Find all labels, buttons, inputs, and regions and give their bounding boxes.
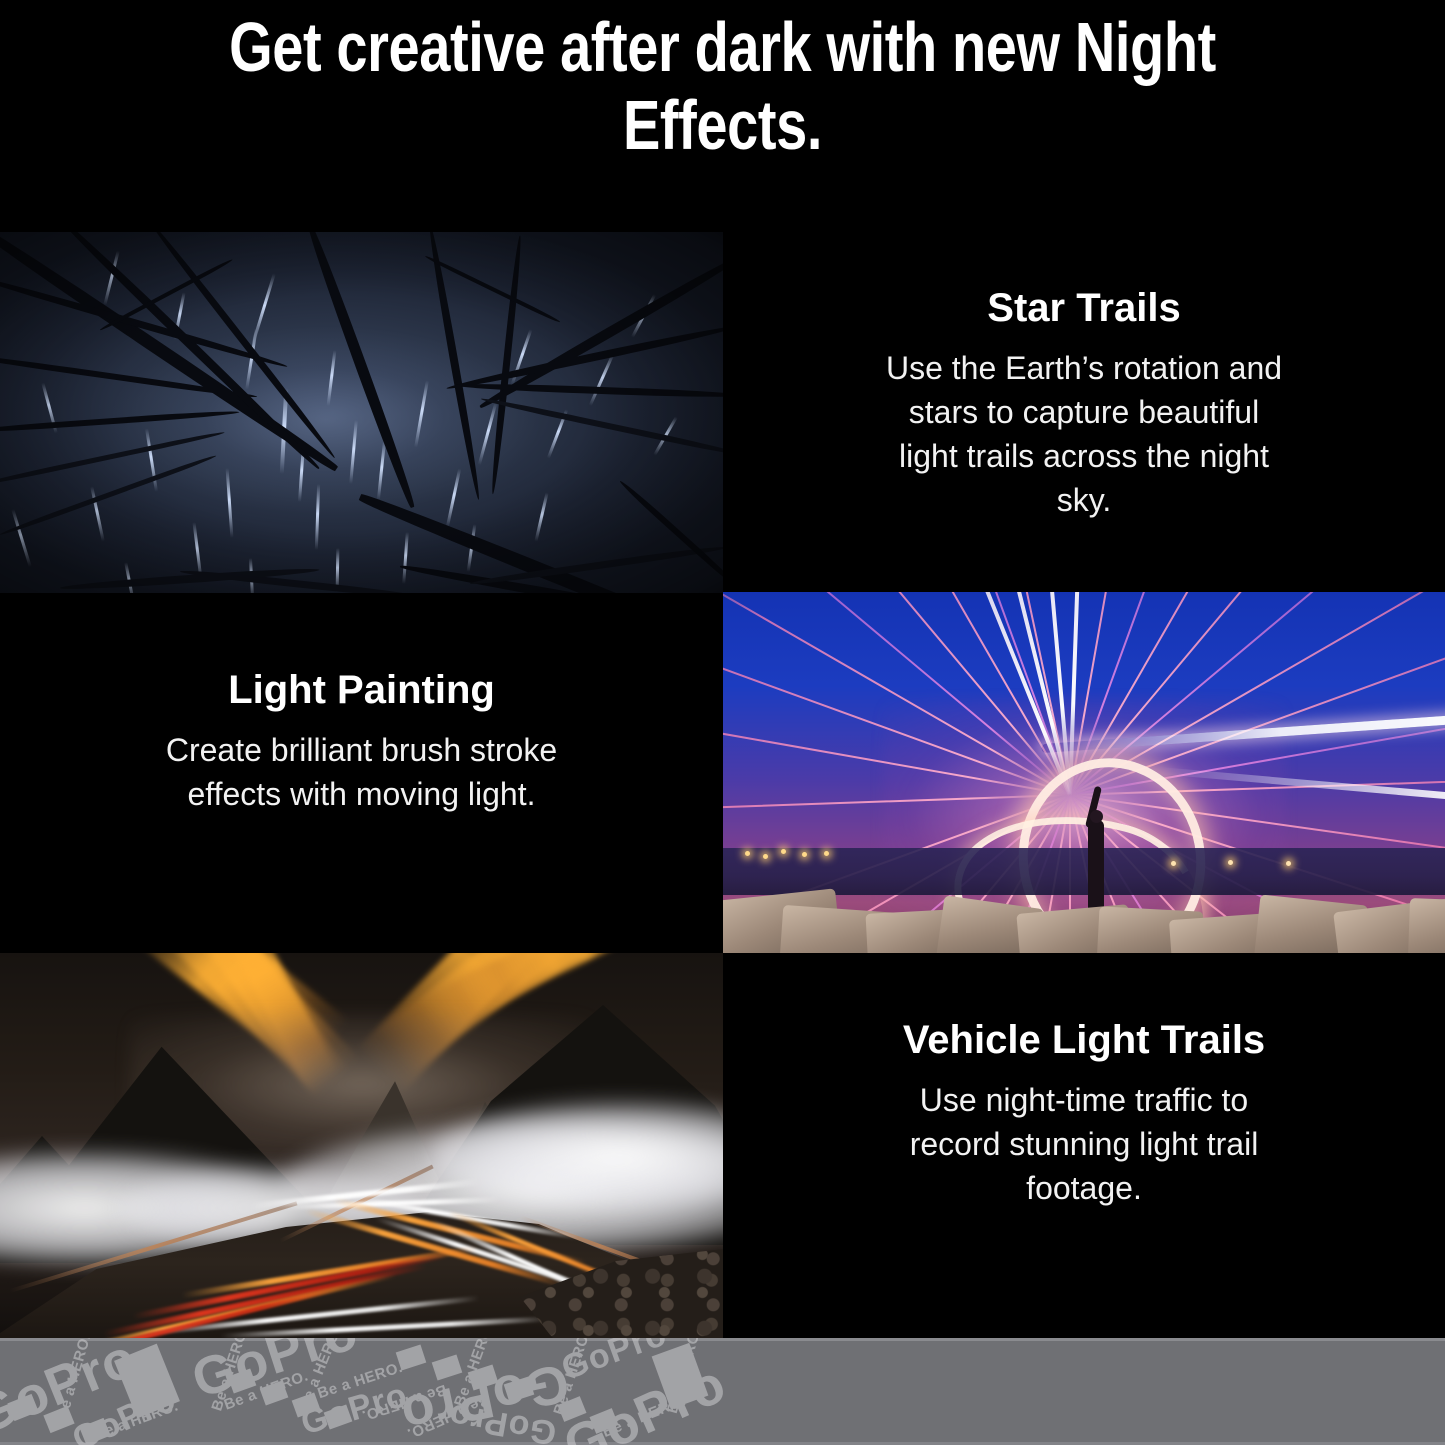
star-trails-text-block: Star Trails Use the Earth’s rotation and…	[723, 286, 1445, 522]
light-painting-image	[723, 592, 1445, 953]
star-trails-heading: Star Trails	[987, 286, 1180, 330]
footer-watermark-pattern: GoPro GoPro GoPro GoPro GoPro GoPro GoPr…	[0, 1338, 730, 1445]
vehicle-light-trails-text-block: Vehicle Light Trails Use night-time traf…	[723, 1018, 1445, 1210]
vehicle-light-trails-heading: Vehicle Light Trails	[903, 1018, 1265, 1062]
footer-bar: GoPro GoPro GoPro GoPro GoPro GoPro GoPr…	[0, 1338, 1445, 1445]
page-title: Get creative after dark with new Night E…	[193, 8, 1253, 164]
light-painting-heading: Light Painting	[228, 668, 495, 712]
star-trails-image	[0, 232, 723, 593]
poster-root: Get creative after dark with new Night E…	[0, 0, 1445, 1445]
vehicle-light-trails-body: Use night-time traffic to record stunnin…	[884, 1078, 1284, 1210]
light-painting-body: Create brilliant brush stroke effects wi…	[162, 728, 562, 816]
vehicle-light-trails-image	[0, 953, 723, 1338]
star-trails-body: Use the Earth’s rotation and stars to ca…	[884, 346, 1284, 522]
light-painting-text-block: Light Painting Create brilliant brush st…	[0, 668, 723, 816]
